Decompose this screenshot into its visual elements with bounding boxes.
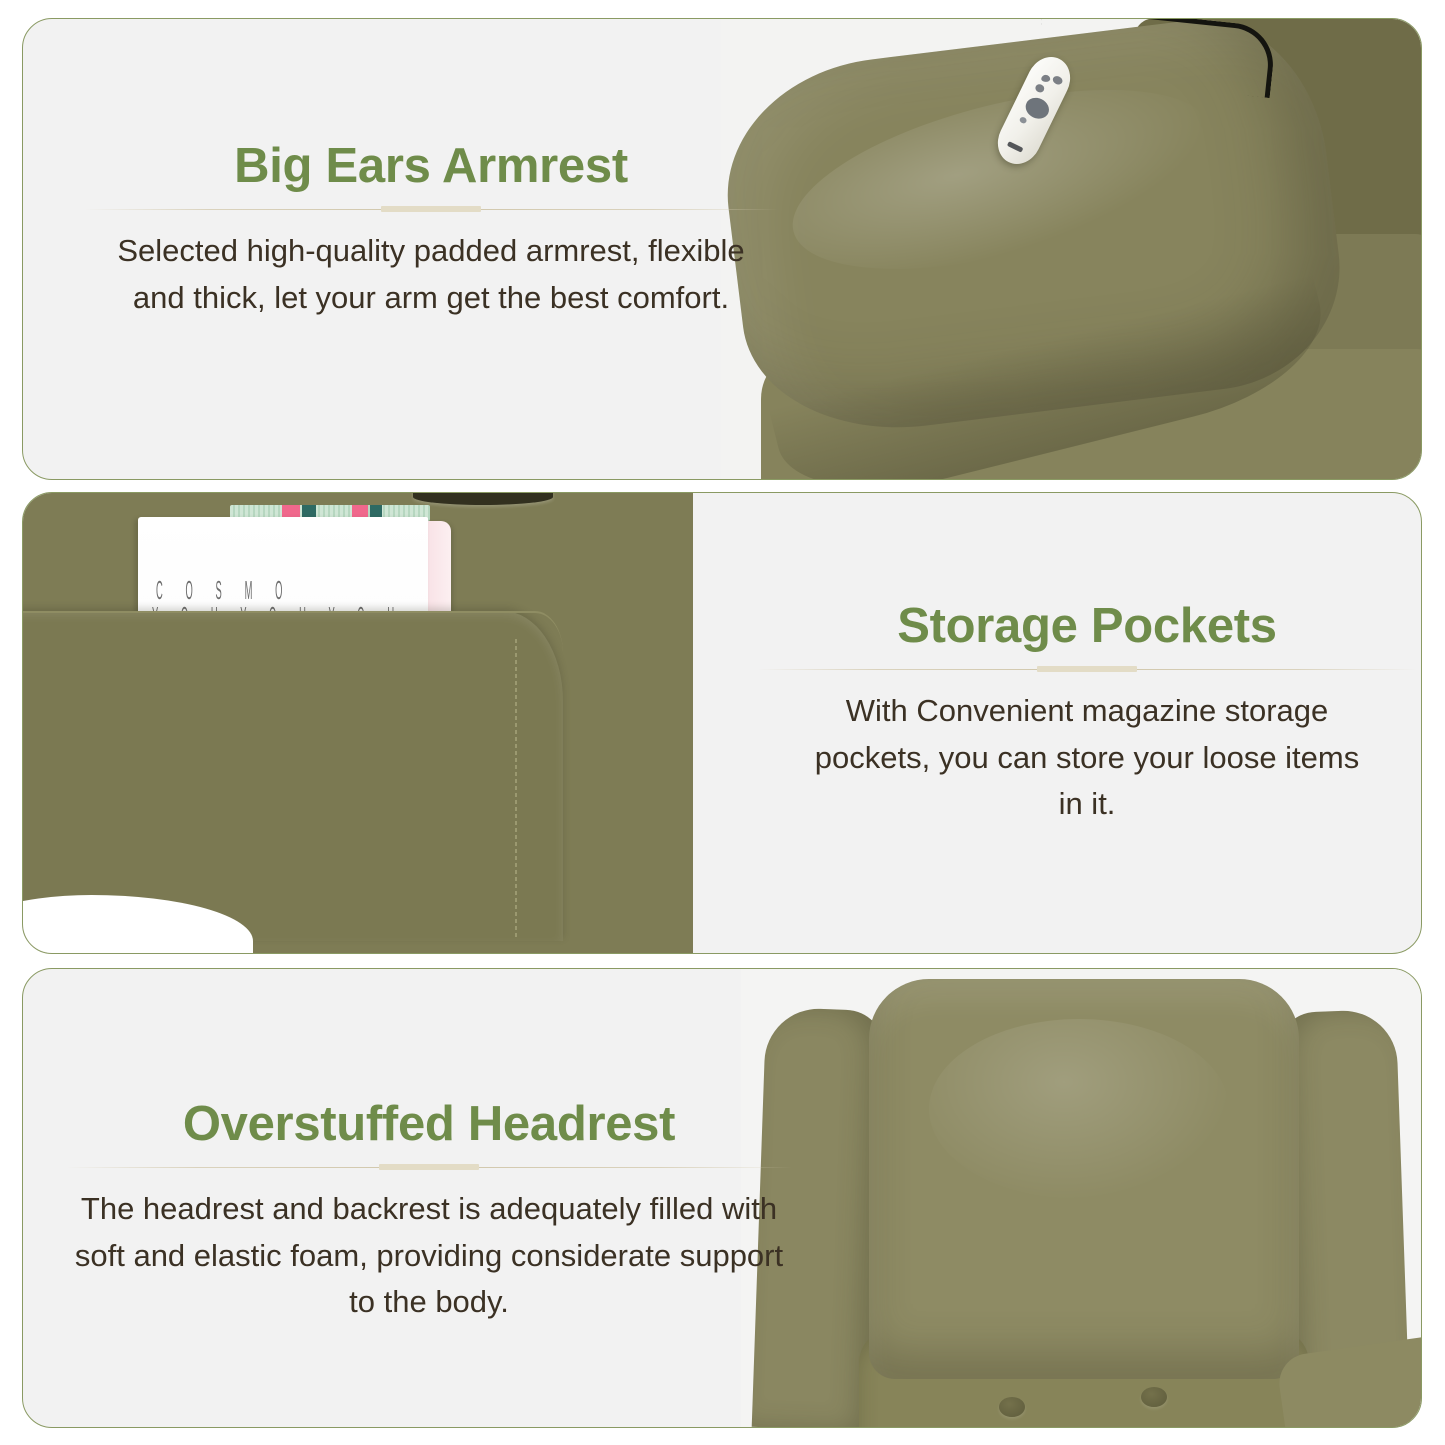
- divider-center-accent: [1037, 666, 1137, 672]
- storage-pocket: [22, 611, 563, 941]
- divider-center-accent: [381, 206, 481, 212]
- armrest-text-block: Big Ears Armrest Selected high-quality p…: [81, 141, 781, 321]
- remote-port: [1007, 141, 1024, 153]
- panel-body-text: Selected high-quality padded armrest, fl…: [101, 228, 761, 321]
- panel-overstuffed-headrest: Overstuffed Headrest The headrest and ba…: [22, 968, 1422, 1428]
- remote-button-massage-icon: [1051, 75, 1063, 87]
- heading-divider: [66, 1164, 792, 1170]
- headrest-photo: [741, 969, 1421, 1427]
- panel-big-ears-armrest: Big Ears Armrest Selected high-quality p…: [22, 18, 1422, 480]
- panel-heading: Big Ears Armrest: [234, 141, 628, 192]
- panel-body-text: The headrest and backrest is adequately …: [64, 1186, 794, 1326]
- headrest-highlight: [929, 1019, 1229, 1199]
- panel-storage-pockets: C O S M O Y O U Y O U Y O U Storage Pock…: [22, 492, 1422, 954]
- headrest-cushion: [869, 979, 1299, 1379]
- heading-divider: [84, 206, 778, 212]
- remote-button-heat-icon: [1041, 75, 1050, 82]
- remote-dpad-icon: [1022, 94, 1052, 122]
- pocket-side-stitching: [515, 639, 517, 939]
- pocket-handle-slot: [413, 492, 553, 505]
- heading-divider: [757, 666, 1417, 672]
- armrest-highlight: [775, 55, 1229, 305]
- remote-button-mode-icon: [1034, 83, 1046, 94]
- armrest-photo: [721, 19, 1421, 479]
- pocket-bottom-cutout: [22, 895, 253, 954]
- panel-body-text: With Convenient magazine storage pockets…: [802, 688, 1372, 828]
- backrest-tuft-button: [999, 1397, 1025, 1417]
- backrest-tuft-button: [1141, 1387, 1167, 1407]
- divider-center-accent: [379, 1164, 479, 1170]
- panel-heading: Storage Pockets: [897, 601, 1277, 652]
- storage-text-block: Storage Pockets With Convenient magazine…: [751, 601, 1422, 828]
- infographic-page: Big Ears Armrest Selected high-quality p…: [0, 0, 1445, 1445]
- storage-pocket-photo: C O S M O Y O U Y O U Y O U: [23, 493, 693, 953]
- remote-power-icon: [1019, 116, 1028, 124]
- headrest-text-block: Overstuffed Headrest The headrest and ba…: [57, 1099, 801, 1326]
- pocket-top-seam: [22, 611, 563, 653]
- panel-heading: Overstuffed Headrest: [183, 1099, 675, 1150]
